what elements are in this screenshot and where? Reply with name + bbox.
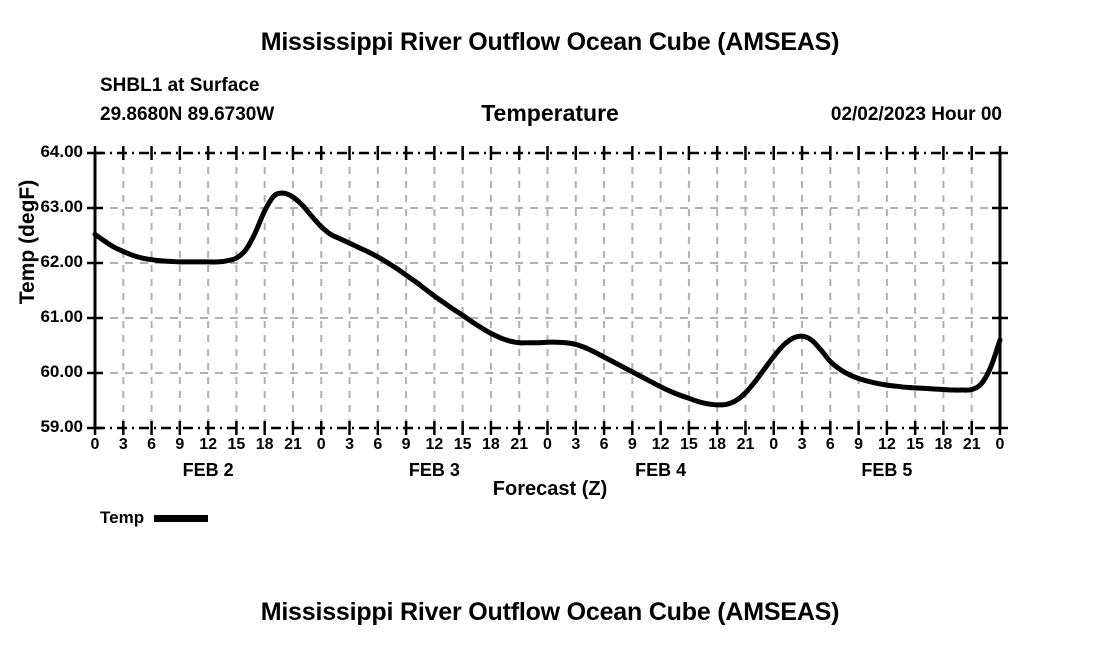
x-tick-label: 21 [957,436,987,454]
x-tick-label: 3 [108,436,138,454]
x-tick-label: 0 [759,436,789,454]
x-tick-label: 18 [250,436,280,454]
x-tick-label: 3 [561,436,591,454]
x-tick-label: 21 [730,436,760,454]
x-tick-label: 3 [787,436,817,454]
y-tick-label: 64.00 [3,142,83,162]
x-tick-label: 9 [165,436,195,454]
legend-label-temp: Temp [100,508,144,528]
x-tick-label: 0 [533,436,563,454]
x-tick-label: 0 [306,436,336,454]
legend-swatch-temp [154,515,208,522]
x-tick-label: 18 [928,436,958,454]
x-tick-label: 9 [391,436,421,454]
plot-area: Temp (degF) 64.0063.0062.0061.0060.0059.… [0,0,1100,650]
y-tick-label: 59.00 [3,417,83,437]
x-tick-label: 6 [815,436,845,454]
x-axis-title: Forecast (Z) [0,478,1100,501]
x-tick-label: 12 [419,436,449,454]
chart-legend: Temp [100,508,208,528]
x-tick-label: 0 [985,436,1015,454]
chart-canvas [0,0,1100,650]
x-tick-label: 6 [589,436,619,454]
footer-title: Mississippi River Outflow Ocean Cube (AM… [0,598,1100,627]
x-tick-label: 12 [193,436,223,454]
x-tick-label: 15 [900,436,930,454]
y-tick-label: 60.00 [3,362,83,382]
x-tick-label: 12 [646,436,676,454]
x-tick-label: 18 [476,436,506,454]
y-tick-label: 61.00 [3,307,83,327]
x-tick-label: 9 [844,436,874,454]
chart-page: Mississippi River Outflow Ocean Cube (AM… [0,0,1100,650]
x-tick-label: 15 [221,436,251,454]
y-tick-label: 62.00 [3,252,83,272]
x-tick-label: 3 [335,436,365,454]
y-axis-title: Temp (degF) [16,152,40,332]
x-tick-label: 0 [80,436,110,454]
x-tick-label: 15 [448,436,478,454]
x-tick-label: 6 [137,436,167,454]
x-tick-label: 15 [674,436,704,454]
x-tick-label: 9 [617,436,647,454]
x-tick-label: 6 [363,436,393,454]
x-tick-label: 12 [872,436,902,454]
y-tick-label: 63.00 [3,197,83,217]
x-tick-label: 21 [278,436,308,454]
x-tick-label: 21 [504,436,534,454]
x-tick-label: 18 [702,436,732,454]
